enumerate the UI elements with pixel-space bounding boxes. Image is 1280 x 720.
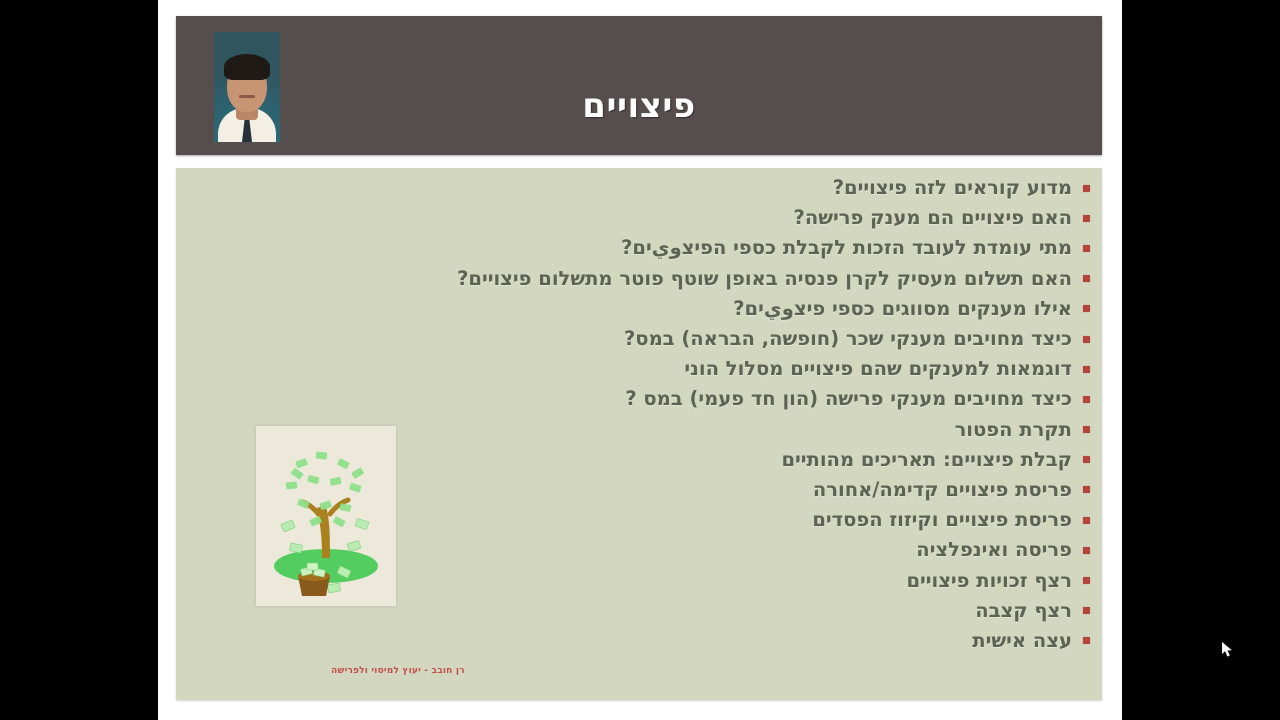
bullet-square-icon <box>1083 577 1090 584</box>
bullet-square-icon <box>1083 396 1090 403</box>
bullet-square-icon <box>1083 245 1090 252</box>
bullet-text: מתי עומדת לעובד הזכות לקבלת כספי הפיצويי… <box>621 236 1072 260</box>
slide-title: פיצויים <box>176 86 1102 126</box>
bullet-row: האם תשלום מעסיק לקרן פנסיה באופן שוטף פו… <box>191 264 1096 294</box>
bullet-text: עצה אישית <box>972 629 1072 653</box>
bullet-text: כיצד מחויבים מענקי שכר (חופשה, הבראה) במ… <box>624 327 1072 351</box>
bullet-text: פריסת פיצויים קדימה/אחורה <box>813 478 1072 502</box>
bullet-square-icon <box>1083 547 1090 554</box>
bullet-text: רצף קצבה <box>975 599 1072 623</box>
bullet-row: אילו מענקים מסווגים כספי פיצويים? <box>191 294 1096 324</box>
presentation-slide: פיצויים מדוע קוראים לזה פיצויים?האם פיצו… <box>158 0 1122 720</box>
bullet-text: כיצד מחויבים מענקי פרישה (הון חד פעמי) ב… <box>625 387 1072 411</box>
bullet-text: מדוע קוראים לזה פיצויים? <box>833 176 1072 200</box>
bullet-text: האם תשלום מעסיק לקרן פנסיה באופן שוטף פו… <box>457 267 1072 291</box>
bullet-square-icon <box>1083 336 1090 343</box>
bullet-square-icon <box>1083 486 1090 493</box>
bullet-row: דוגמאות למענקים שהם פיצויים מסלול הוני <box>191 354 1096 384</box>
bullet-row: כיצד מחויבים מענקי פרישה (הון חד פעמי) ב… <box>191 384 1096 414</box>
bullet-square-icon <box>1083 637 1090 644</box>
bullet-square-icon <box>1083 456 1090 463</box>
bullet-square-icon <box>1083 185 1090 192</box>
bullet-square-icon <box>1083 275 1090 282</box>
bullet-row: האם פיצויים הם מענק פרישה? <box>191 203 1096 233</box>
bullet-row: עצה אישית <box>191 626 1096 656</box>
bullet-row: מתי עומדת לעובד הזכות לקבלת כספי הפיצويי… <box>191 233 1096 263</box>
bullet-text: האם פיצויים הם מענק פרישה? <box>794 206 1072 230</box>
bullet-text: אילו מענקים מסווגים כספי פיצويים? <box>733 297 1072 321</box>
bullet-text: רצף זכויות פיצויים <box>906 569 1072 593</box>
bullet-square-icon <box>1083 426 1090 433</box>
bullet-row: כיצד מחויבים מענקי שכר (חופשה, הבראה) במ… <box>191 324 1096 354</box>
bullet-square-icon <box>1083 366 1090 373</box>
video-stage: פיצויים מדוע קוראים לזה פיצויים?האם פיצו… <box>0 0 1280 720</box>
bullet-square-icon <box>1083 215 1090 222</box>
bullet-text: פריסה ואינפלציה <box>916 538 1072 562</box>
slide-body-panel: מדוע קוראים לזה פיצויים?האם פיצויים הם מ… <box>176 168 1102 700</box>
bullet-row: מדוע קוראים לזה פיצויים? <box>191 173 1096 203</box>
bullet-square-icon <box>1083 305 1090 312</box>
money-tree-clipart <box>256 426 396 606</box>
mouse-cursor <box>1222 642 1234 658</box>
bullet-square-icon <box>1083 607 1090 614</box>
bullet-text: פריסת פיצויים וקיזוז הפסדים <box>812 508 1072 532</box>
portrait-hair <box>224 54 270 80</box>
bullet-text: תקרת הפטור <box>955 418 1072 442</box>
footer-credit: רן חובב - יעוץ למיסוי ולפרישה <box>268 666 528 676</box>
bullet-square-icon <box>1083 517 1090 524</box>
bullet-text: קבלת פיצויים: תאריכים מהותיים <box>781 448 1072 472</box>
slide-title-bar: פיצויים <box>176 16 1102 155</box>
bullet-text: דוגמאות למענקים שהם פיצויים מסלול הוני <box>684 357 1072 381</box>
